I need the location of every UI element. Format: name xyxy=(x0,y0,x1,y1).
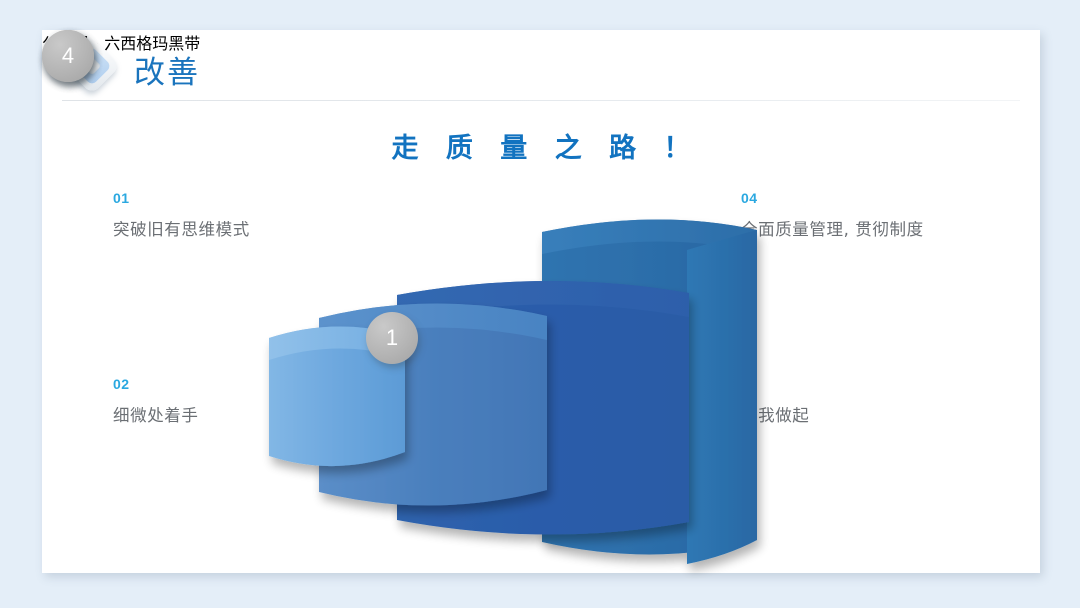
label-item-04: 04 全面质量管理, 贯彻制度 xyxy=(741,190,1001,241)
label-text: 全面质量管理, 贯彻制度 xyxy=(741,219,1001,241)
slide-header: 改善 xyxy=(42,30,1040,102)
slide-canvas: 改善 走 质 量 之 路 ！ 01 突破旧有思维模式 02 细微处着手 03 从… xyxy=(0,0,1080,608)
step-badge-4[interactable]: 4 xyxy=(42,30,94,82)
header-divider xyxy=(62,100,1020,101)
page-title: 走 质 量 之 路 ！ xyxy=(42,126,1040,165)
slide-card: 改善 走 质 量 之 路 ！ 01 突破旧有思维模式 02 细微处着手 03 从… xyxy=(42,30,1040,573)
label-number: 04 xyxy=(741,190,1001,206)
cylinder-chart xyxy=(257,190,757,580)
label-number: 03 xyxy=(741,376,1001,392)
label-item-03: 03 从我做起 xyxy=(741,376,1001,427)
header-title: 改善 xyxy=(134,47,200,92)
label-text: 从我做起 xyxy=(741,405,1001,427)
step-badge-1[interactable]: 1 xyxy=(366,312,418,364)
